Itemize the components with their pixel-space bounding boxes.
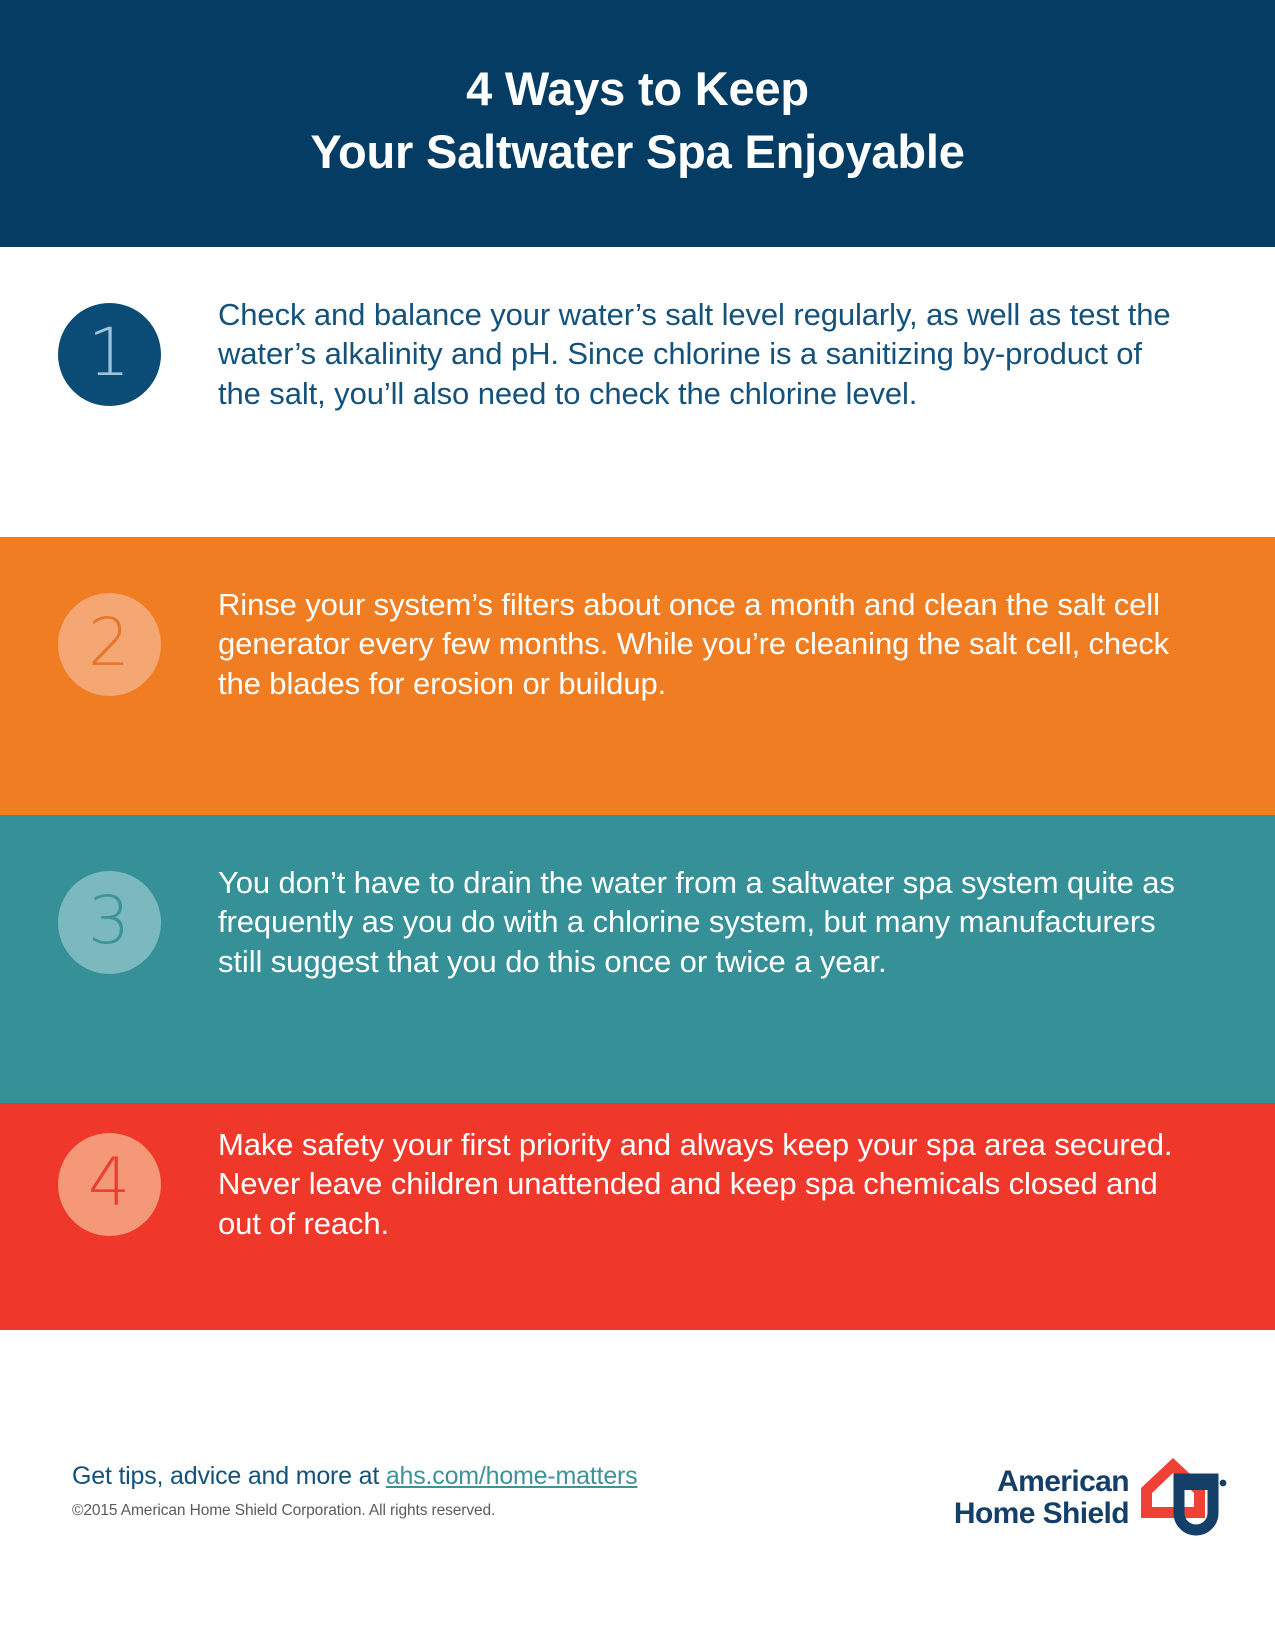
page-header: 4 Ways to Keep Your Saltwater Spa Enjoya… [0,0,1275,247]
tip-text-1: Check and balance your water’s salt leve… [218,295,1275,413]
footer-tagline-prefix: Get tips, advice and more at [72,1462,386,1490]
number-badge-4: 4 [58,1133,161,1236]
shield-house-icon [1133,1452,1229,1544]
number-badge-1: 1 [58,303,161,406]
tip-text-2: Rinse your system’s filters about once a… [218,585,1275,703]
footer-text-block: Get tips, advice and more at ahs.com/hom… [72,1462,637,1520]
page-footer: Get tips, advice and more at ahs.com/hom… [0,1330,1275,1650]
infographic-page: 4 Ways to Keep Your Saltwater Spa Enjoya… [0,0,1275,1650]
copyright-text: ©2015 American Home Shield Corporation. … [72,1502,637,1520]
page-title: 4 Ways to Keep Your Saltwater Spa Enjoya… [310,58,964,182]
footer-tagline: Get tips, advice and more at ahs.com/hom… [72,1462,637,1491]
number-badge-3: 3 [58,871,161,974]
tip-text-3: You don’t have to drain the water from a… [218,863,1275,981]
american-home-shield-logo: American Home Shield [954,1452,1229,1544]
badge-number-2: 2 [88,610,130,676]
badge-column-2: 2 [0,585,218,696]
home-matters-link[interactable]: ahs.com/home-matters [386,1462,638,1490]
logo-wordmark: American Home Shield [954,1466,1129,1531]
tip-row-3: 3 You don’t have to drain the water from… [0,815,1275,1103]
tip-row-4: 4 Make safety your first priority and al… [0,1103,1275,1330]
badge-column-1: 1 [0,295,218,406]
badge-column-3: 3 [0,863,218,974]
badge-column-4: 4 [0,1125,218,1236]
number-badge-2: 2 [58,593,161,696]
badge-number-3: 3 [88,888,130,954]
tip-row-2: 2 Rinse your system’s filters about once… [0,537,1275,815]
tip-row-1: 1 Check and balance your water’s salt le… [0,247,1275,537]
badge-number-1: 1 [88,320,130,386]
tip-text-4: Make safety your first priority and alwa… [218,1125,1275,1243]
badge-number-4: 4 [88,1150,130,1216]
